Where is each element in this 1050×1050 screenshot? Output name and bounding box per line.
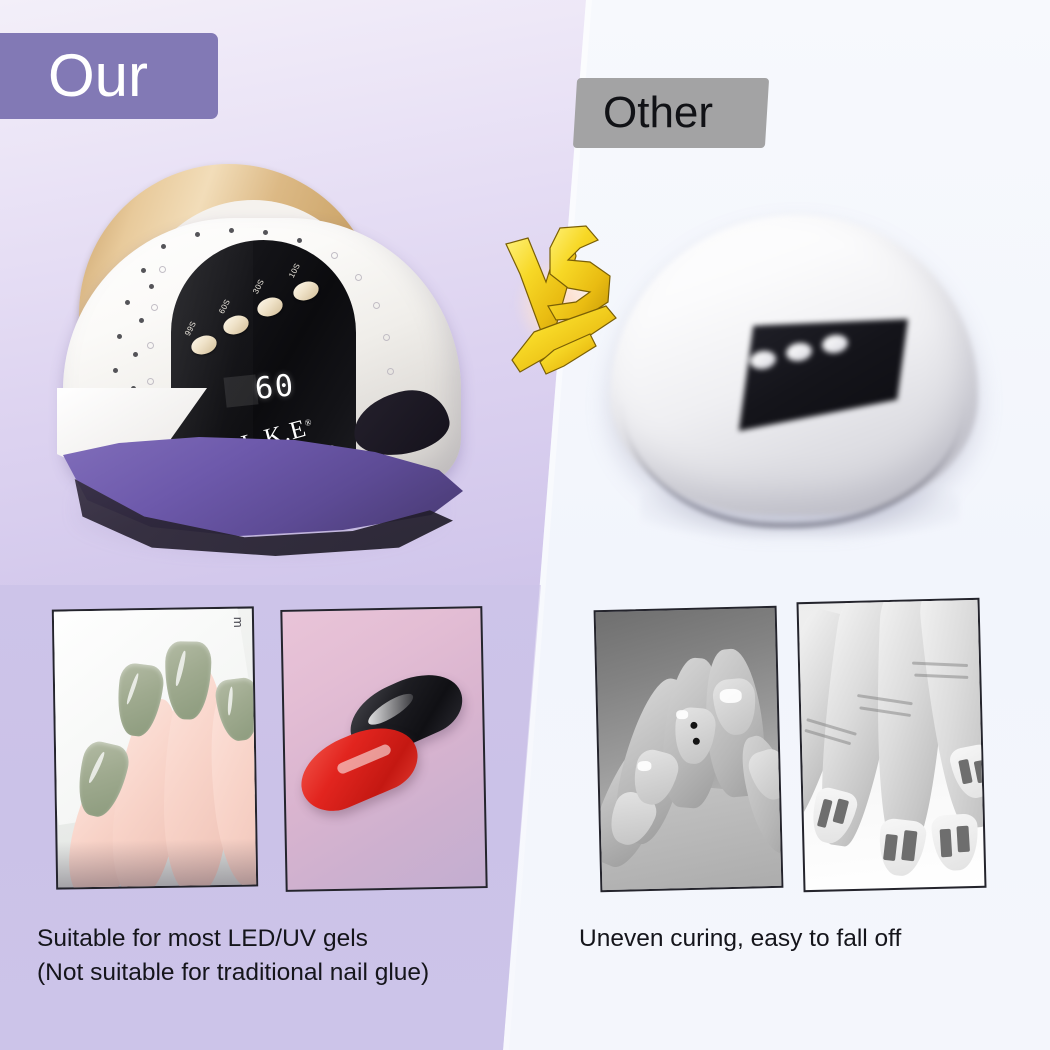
timer-button-30s-label: 30S xyxy=(251,278,266,296)
photo-red-black-swatches xyxy=(280,606,487,892)
our-badge-label: Our xyxy=(48,46,148,106)
other-nail-lamp-product-image xyxy=(600,215,992,545)
our-caption: Suitable for most LED/UV gels (Not suita… xyxy=(37,922,507,990)
our-nail-lamp-product-image: 99S 60S 30S 10S 60 L.K.E® S2PRO Nail Lam… xyxy=(55,160,475,570)
photo-watermark: m xyxy=(231,617,246,628)
photo-bottom-shadow xyxy=(57,838,256,887)
chipped-nail xyxy=(875,817,927,878)
comparison-infographic: Our Other xyxy=(0,0,1050,1050)
other-badge-label: Other xyxy=(603,91,713,135)
photo-uneven-cured-nails xyxy=(594,606,784,892)
timer-button-30s[interactable] xyxy=(255,294,285,319)
other-badge: Other xyxy=(573,78,769,148)
timer-button-10s-label: 10S xyxy=(287,262,302,280)
photo-green-gel-manicure: m xyxy=(52,606,258,889)
our-lamp-base xyxy=(53,378,477,560)
our-lamp-base-black-tip xyxy=(348,384,453,462)
timer-button-10s[interactable] xyxy=(291,278,321,303)
photo-chipped-nails xyxy=(796,598,986,892)
chipped-nail xyxy=(931,813,980,872)
nail-flake xyxy=(637,761,651,771)
nail-flake xyxy=(676,710,688,719)
our-badge: Our xyxy=(0,33,218,119)
other-caption: Uneven curing, easy to fall off xyxy=(579,922,999,956)
nail-flake xyxy=(720,689,742,704)
